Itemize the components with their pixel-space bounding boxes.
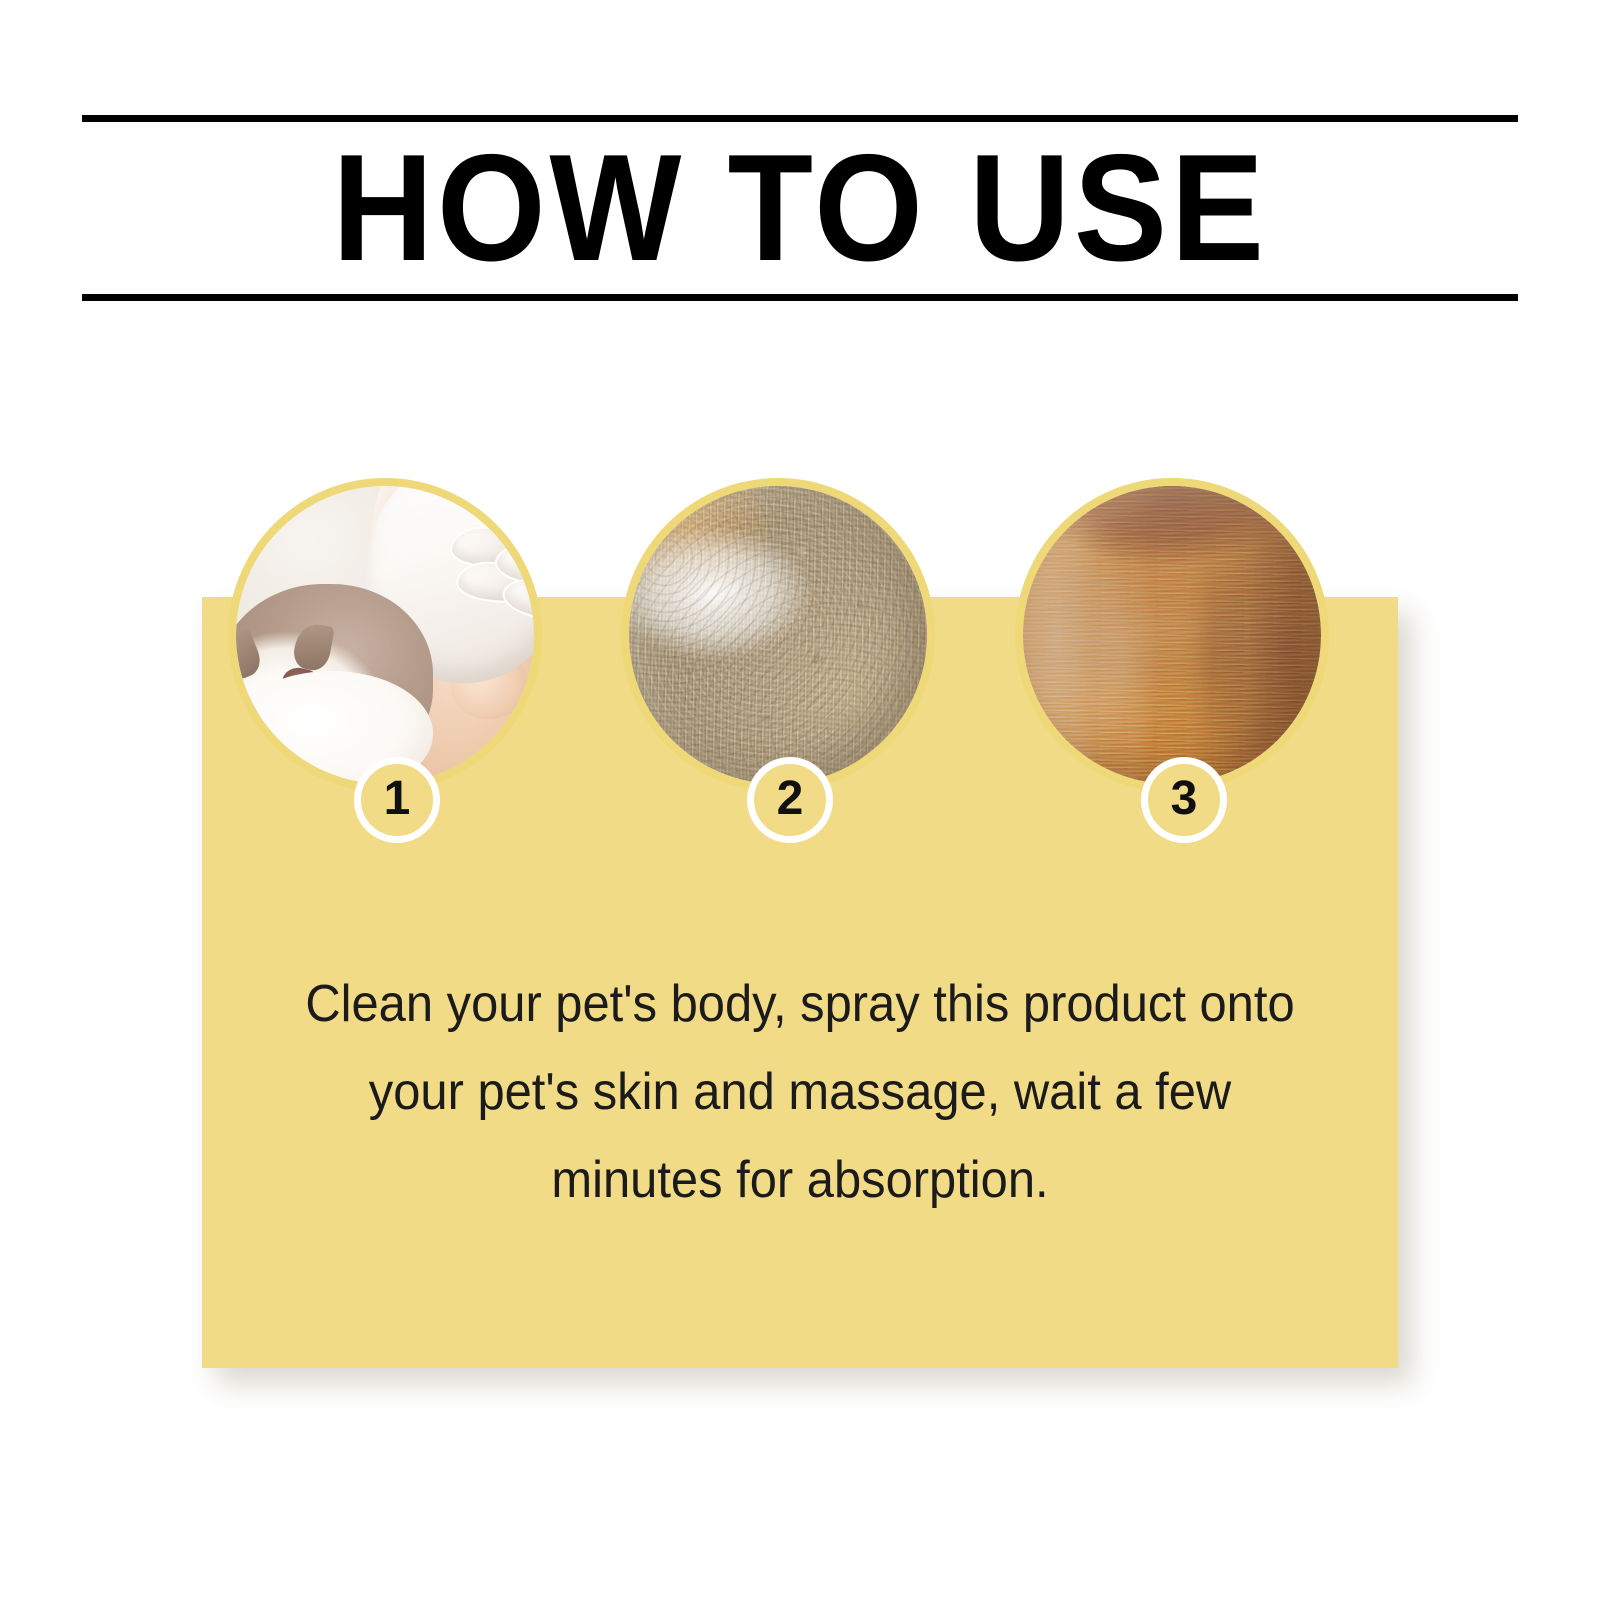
title-rule-bottom: [82, 294, 1518, 301]
step-item-1: 1: [228, 470, 558, 850]
step-number-2: 2: [777, 775, 804, 823]
step-item-3: 3: [1015, 470, 1345, 850]
title-block: HOW TO USE: [82, 115, 1518, 301]
step-number-3: 3: [1171, 775, 1198, 823]
step-badge-1: 1: [354, 757, 440, 843]
cat-ear-right: [292, 622, 336, 673]
instruction-paragraph: Clean your pet's body, spray this produc…: [294, 960, 1305, 1224]
page-title: HOW TO USE: [139, 122, 1460, 294]
step-number-1: 1: [384, 775, 411, 823]
photo-3-vignette: [1023, 486, 1321, 784]
photo-1-inner: [236, 486, 534, 784]
step-item-2: 2: [621, 470, 951, 850]
cat-ear-left: [236, 627, 266, 683]
photo-2-vignette: [629, 486, 927, 784]
ragdoll-cat-being-wiped-photo: [228, 478, 542, 792]
step-badge-2: 2: [747, 757, 833, 843]
photo-3-inner: [1023, 486, 1321, 784]
steps-row: 1 2 3: [0, 470, 1600, 850]
step-badge-3: 3: [1141, 757, 1227, 843]
photo-2-inner: [629, 486, 927, 784]
title-rule-top: [82, 115, 1518, 122]
ginger-pet-fur-closeup-photo: [1015, 478, 1329, 792]
pale-beige-pet-fur-closeup-photo: [621, 478, 935, 792]
